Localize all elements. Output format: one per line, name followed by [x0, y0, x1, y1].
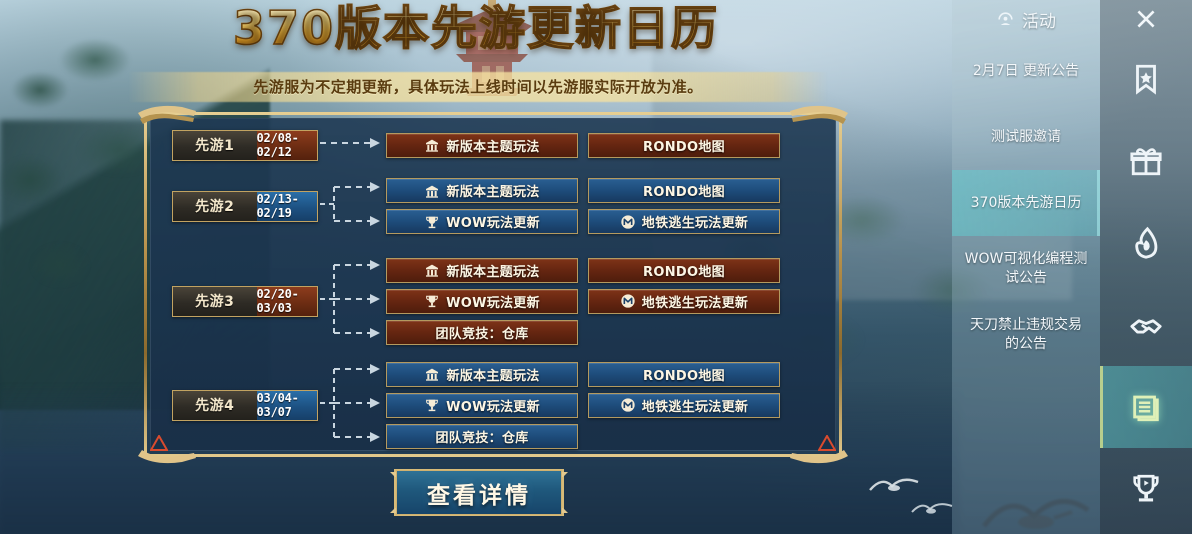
- item-pill[interactable]: 新版本主题玩法: [386, 178, 578, 203]
- bookmark-star-icon: [1129, 62, 1163, 96]
- handshake-icon: [1129, 308, 1163, 342]
- phase-date-range: 03/04-03/07: [257, 391, 317, 420]
- phase-date-chip: 先游202/13-02/19: [172, 191, 318, 222]
- close-button[interactable]: [1100, 0, 1192, 38]
- item-pill[interactable]: 团队竞技：仓库: [386, 320, 578, 345]
- item-pill[interactable]: WOW玩法更新: [386, 289, 578, 314]
- phase-date-range: 02/13-02/19: [257, 192, 317, 221]
- title-area: 370版本先游更新日历: [0, 4, 952, 52]
- sidebar-item-list: 2月7日 更新公告测试服邀请370版本先游日历WOW可视化编程测试公告天刀禁止违…: [952, 38, 1100, 368]
- gate-icon: [424, 137, 440, 153]
- item-pill[interactable]: RONDO地图: [588, 133, 780, 158]
- item-pill[interactable]: 新版本主题玩法: [386, 362, 578, 387]
- sidebar-item-label: 天刀禁止违规交易的公告: [964, 316, 1088, 354]
- item-pill-label: RONDO地图: [643, 136, 725, 155]
- rail-item-flame[interactable]: [1100, 202, 1192, 284]
- item-pill-label: 团队竞技：仓库: [435, 427, 528, 446]
- connector-arrows-icon: [318, 248, 386, 350]
- item-pill-label: 团队竞技：仓库: [435, 323, 528, 342]
- item-pill[interactable]: RONDO地图: [588, 258, 780, 283]
- row-items: 新版本主题玩法RONDO地图WOW玩法更新地铁逃生玩法更新团队竞技：仓库: [386, 362, 826, 449]
- trophy-icon: [424, 293, 440, 309]
- row-items: 新版本主题玩法RONDO地图WOW玩法更新地铁逃生玩法更新团队竞技：仓库: [386, 258, 826, 345]
- metro-icon: [620, 293, 636, 309]
- item-pill-label: RONDO地图: [643, 365, 725, 384]
- item-line: 新版本主题玩法RONDO地图: [386, 133, 826, 158]
- gate-icon: [424, 183, 440, 199]
- item-pill[interactable]: RONDO地图: [588, 362, 780, 387]
- view-details-button[interactable]: 查看详情: [386, 466, 572, 519]
- item-line: 新版本主题玩法RONDO地图: [386, 362, 826, 387]
- item-pill[interactable]: 地铁逃生玩法更新: [588, 289, 780, 314]
- calendar-rows: 先游102/08-02/12新版本主题玩法RONDO地图先游202/13-02/…: [144, 112, 842, 457]
- icon-rail: [1100, 0, 1192, 534]
- item-pill-label: 新版本主题玩法: [446, 181, 539, 200]
- document-list-icon: [1129, 390, 1163, 424]
- calendar-row: 先游102/08-02/12新版本主题玩法RONDO地图: [172, 126, 826, 164]
- connector-arrows-icon: [318, 170, 386, 238]
- row-connector: [318, 126, 386, 164]
- crane-bird-icon-2: [910, 498, 954, 522]
- sidebar-item-label: WOW可视化编程测试公告: [964, 250, 1088, 288]
- row-connector: [318, 248, 386, 354]
- close-icon: [1133, 6, 1159, 32]
- calendar-row: 先游302/20-03/03新版本主题玩法RONDO地图WOW玩法更新地铁逃生玩…: [172, 248, 826, 354]
- row-items: 新版本主题玩法RONDO地图: [386, 133, 826, 158]
- calendar-panel: 先游102/08-02/12新版本主题玩法RONDO地图先游202/13-02/…: [144, 112, 842, 457]
- rail-item-gift[interactable]: [1100, 120, 1192, 202]
- flame-icon: [1129, 226, 1163, 260]
- sidebar-item-1[interactable]: 测试服邀请: [952, 104, 1100, 170]
- item-line: 团队竞技：仓库: [386, 424, 826, 449]
- cta-label: 查看详情: [386, 466, 572, 519]
- rail-item-list: [1100, 38, 1192, 530]
- item-pill-label: RONDO地图: [643, 181, 725, 200]
- metro-icon: [620, 397, 636, 413]
- page-subtitle: 先游服为不定期更新，具体玩法上线时间以先游服实际开放为准。: [128, 76, 828, 97]
- item-pill[interactable]: 团队竞技：仓库: [386, 424, 578, 449]
- phase-name: 先游4: [173, 391, 257, 420]
- trophy-icon: [424, 397, 440, 413]
- item-pill[interactable]: 新版本主题玩法: [386, 133, 578, 158]
- item-line: WOW玩法更新地铁逃生玩法更新: [386, 393, 826, 418]
- sidebar-item-4[interactable]: 天刀禁止违规交易的公告: [952, 302, 1100, 368]
- phase-name: 先游2: [173, 192, 257, 221]
- activity-calendar-screen: 370版本先游更新日历 先游服为不定期更新，具体玩法上线时间以先游服实际开放为准…: [0, 0, 1192, 534]
- item-pill-label: 新版本主题玩法: [446, 365, 539, 384]
- row-connector: [318, 170, 386, 242]
- connector-arrows-icon: [318, 126, 386, 160]
- rail-item-bookmark-star[interactable]: [1100, 38, 1192, 120]
- calendar-row: 先游202/13-02/19新版本主题玩法RONDO地图WOW玩法更新地铁逃生玩…: [172, 170, 826, 242]
- page-title: 370版本先游更新日历: [233, 4, 719, 52]
- calendar-row: 先游403/04-03/07新版本主题玩法RONDO地图WOW玩法更新地铁逃生玩…: [172, 352, 826, 458]
- item-pill[interactable]: RONDO地图: [588, 178, 780, 203]
- connector-arrows-icon: [318, 352, 386, 454]
- item-pill-label: 新版本主题玩法: [446, 261, 539, 280]
- rail-item-handshake[interactable]: [1100, 284, 1192, 366]
- item-line: 团队竞技：仓库: [386, 320, 826, 345]
- rail-item-document-list[interactable]: [1100, 366, 1192, 448]
- metro-icon: [620, 214, 636, 230]
- item-pill-label: WOW玩法更新: [446, 292, 540, 311]
- item-pill[interactable]: 地铁逃生玩法更新: [588, 393, 780, 418]
- sidebar-item-label: 370版本先游日历: [971, 194, 1082, 213]
- item-pill-label: 地铁逃生玩法更新: [642, 396, 748, 415]
- crane-bird-icon: [868, 472, 922, 500]
- phase-date-chip: 先游102/08-02/12: [172, 130, 318, 161]
- phase-date-range: 02/08-02/12: [257, 131, 317, 160]
- gate-icon: [424, 366, 440, 382]
- item-pill-label: RONDO地图: [643, 261, 725, 280]
- item-pill-label: WOW玩法更新: [446, 212, 540, 231]
- item-line: WOW玩法更新地铁逃生玩法更新: [386, 289, 826, 314]
- sidebar-item-0[interactable]: 2月7日 更新公告: [952, 38, 1100, 104]
- rail-item-trophy-play[interactable]: [1100, 448, 1192, 530]
- row-items: 新版本主题玩法RONDO地图WOW玩法更新地铁逃生玩法更新: [386, 178, 826, 234]
- phase-date-range: 02/20-03/03: [257, 287, 317, 316]
- sidebar-item-2[interactable]: 370版本先游日历: [952, 170, 1100, 236]
- sidebar-item-label: 测试服邀请: [991, 128, 1061, 147]
- item-line: 新版本主题玩法RONDO地图: [386, 178, 826, 203]
- item-pill[interactable]: 地铁逃生玩法更新: [588, 209, 780, 234]
- phase-name: 先游1: [173, 131, 257, 160]
- item-pill[interactable]: WOW玩法更新: [386, 393, 578, 418]
- item-pill-label: 地铁逃生玩法更新: [642, 292, 748, 311]
- trophy-icon: [424, 214, 440, 230]
- gate-icon: [424, 183, 440, 199]
- sidebar-item-label: 2月7日 更新公告: [973, 62, 1079, 81]
- item-pill-label: 新版本主题玩法: [446, 136, 539, 155]
- phase-name: 先游3: [173, 287, 257, 316]
- trophy-icon: [424, 397, 440, 413]
- item-pill-label: 地铁逃生玩法更新: [642, 212, 748, 231]
- sidebar-item-3[interactable]: WOW可视化编程测试公告: [952, 236, 1100, 302]
- gate-icon: [424, 137, 440, 153]
- gate-icon: [424, 366, 440, 382]
- gate-icon: [424, 262, 440, 278]
- item-line: 新版本主题玩法RONDO地图: [386, 258, 826, 283]
- item-pill-label: WOW玩法更新: [446, 396, 540, 415]
- activity-sidebar: 活动 2月7日 更新公告测试服邀请370版本先游日历WOW可视化编程测试公告天刀…: [952, 0, 1100, 534]
- trophy-icon: [424, 293, 440, 309]
- trophy-icon: [424, 214, 440, 230]
- phase-date-chip: 先游403/04-03/07: [172, 390, 318, 421]
- item-line: WOW玩法更新地铁逃生玩法更新: [386, 209, 826, 234]
- metro-icon: [620, 397, 636, 413]
- sidebar-header: 活动: [952, 0, 1100, 38]
- gift-icon: [1129, 144, 1163, 178]
- sidebar-header-label: 活动: [1022, 7, 1056, 32]
- item-pill[interactable]: 新版本主题玩法: [386, 258, 578, 283]
- item-pill[interactable]: WOW玩法更新: [386, 209, 578, 234]
- trophy-play-icon: [1129, 472, 1163, 506]
- row-connector: [318, 352, 386, 458]
- announcement-icon: [996, 10, 1015, 29]
- metro-icon: [620, 293, 636, 309]
- phase-date-chip: 先游302/20-03/03: [172, 286, 318, 317]
- gate-icon: [424, 262, 440, 278]
- metro-icon: [620, 214, 636, 230]
